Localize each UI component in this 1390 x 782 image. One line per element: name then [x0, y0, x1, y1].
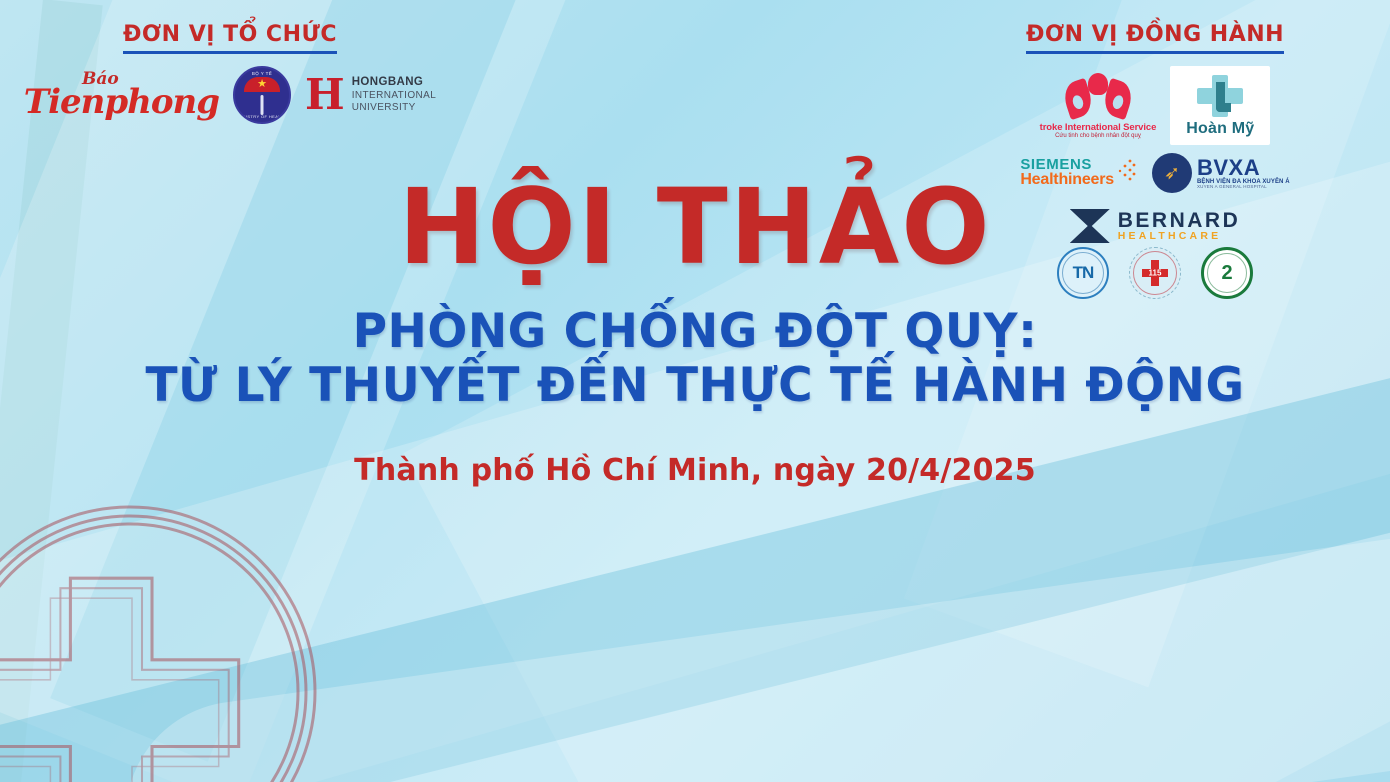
stroke-international-service-logo: troke International Service Cứu tinh cho… [1040, 73, 1157, 139]
hoan-my-name: Hoàn Mỹ [1186, 120, 1254, 138]
sponsors-heading: ĐƠN VỊ ĐỒNG HÀNH [1026, 22, 1284, 54]
sis-tagline: Cứu tinh cho bệnh nhân đột quỵ [1040, 133, 1157, 139]
event-title: HỘI THẢO [0, 175, 1390, 279]
medical-cross-watermark-icon [0, 492, 330, 782]
event-date-location: Thành phố Hồ Chí Minh, ngày 20/4/2025 [0, 453, 1390, 488]
hoan-my-cross-icon [1197, 75, 1243, 117]
event-subtitle-line1: PHÒNG CHỐNG ĐỘT QUỴ: [0, 305, 1390, 359]
moh-bottom-text: MINISTRY OF HEALTH [235, 114, 289, 119]
sis-name: troke International Service [1040, 122, 1157, 133]
tien-phong-wordmark: Tienphong [24, 85, 219, 119]
siemens-name: SIEMENS [1020, 157, 1114, 173]
bao-tien-phong-logo: Báo Tienphong [24, 71, 219, 119]
115-mark: 115 [1149, 269, 1162, 278]
sis-butterfly-icon [1061, 73, 1135, 121]
moh-star-icon: ★ [257, 79, 267, 90]
organizer-logo-row: Báo Tienphong BỘ Y TẾ ★ MINISTRY OF HEAL… [20, 66, 440, 124]
hoan-my-logo: Hoàn Mỹ [1170, 66, 1270, 145]
sponsor-logo-row-1: troke International Service Cứu tinh cho… [940, 66, 1370, 145]
hongbang-line2: INTERNATIONAL [352, 90, 436, 103]
hongbang-h-mark-icon: H [305, 78, 345, 112]
event-subtitle-line2: TỪ LÝ THUYẾT ĐẾN THỰC TẾ HÀNH ĐỘNG [0, 359, 1390, 413]
moh-top-text: BỘ Y TẾ [235, 71, 289, 76]
hongbang-line3: UNIVERSITY [352, 102, 436, 115]
main-headline-block: HỘI THẢO PHÒNG CHỐNG ĐỘT QUỴ: TỪ LÝ THUY… [0, 175, 1390, 488]
organizers-block: ĐƠN VỊ TỔ CHỨC Báo Tienphong BỘ Y TẾ ★ M… [20, 22, 440, 124]
hongbang-logo: H HONGBANG INTERNATIONAL UNIVERSITY [305, 75, 436, 114]
organizers-heading: ĐƠN VỊ TỔ CHỨC [123, 22, 337, 54]
ministry-of-health-seal-icon: BỘ Y TẾ ★ MINISTRY OF HEALTH [233, 66, 291, 124]
hongbang-name: HONGBANG [352, 75, 436, 89]
event-banner: ĐƠN VỊ TỔ CHỨC Báo Tienphong BỘ Y TẾ ★ M… [0, 0, 1390, 782]
moh-rod-of-asclepius-icon [261, 95, 264, 115]
